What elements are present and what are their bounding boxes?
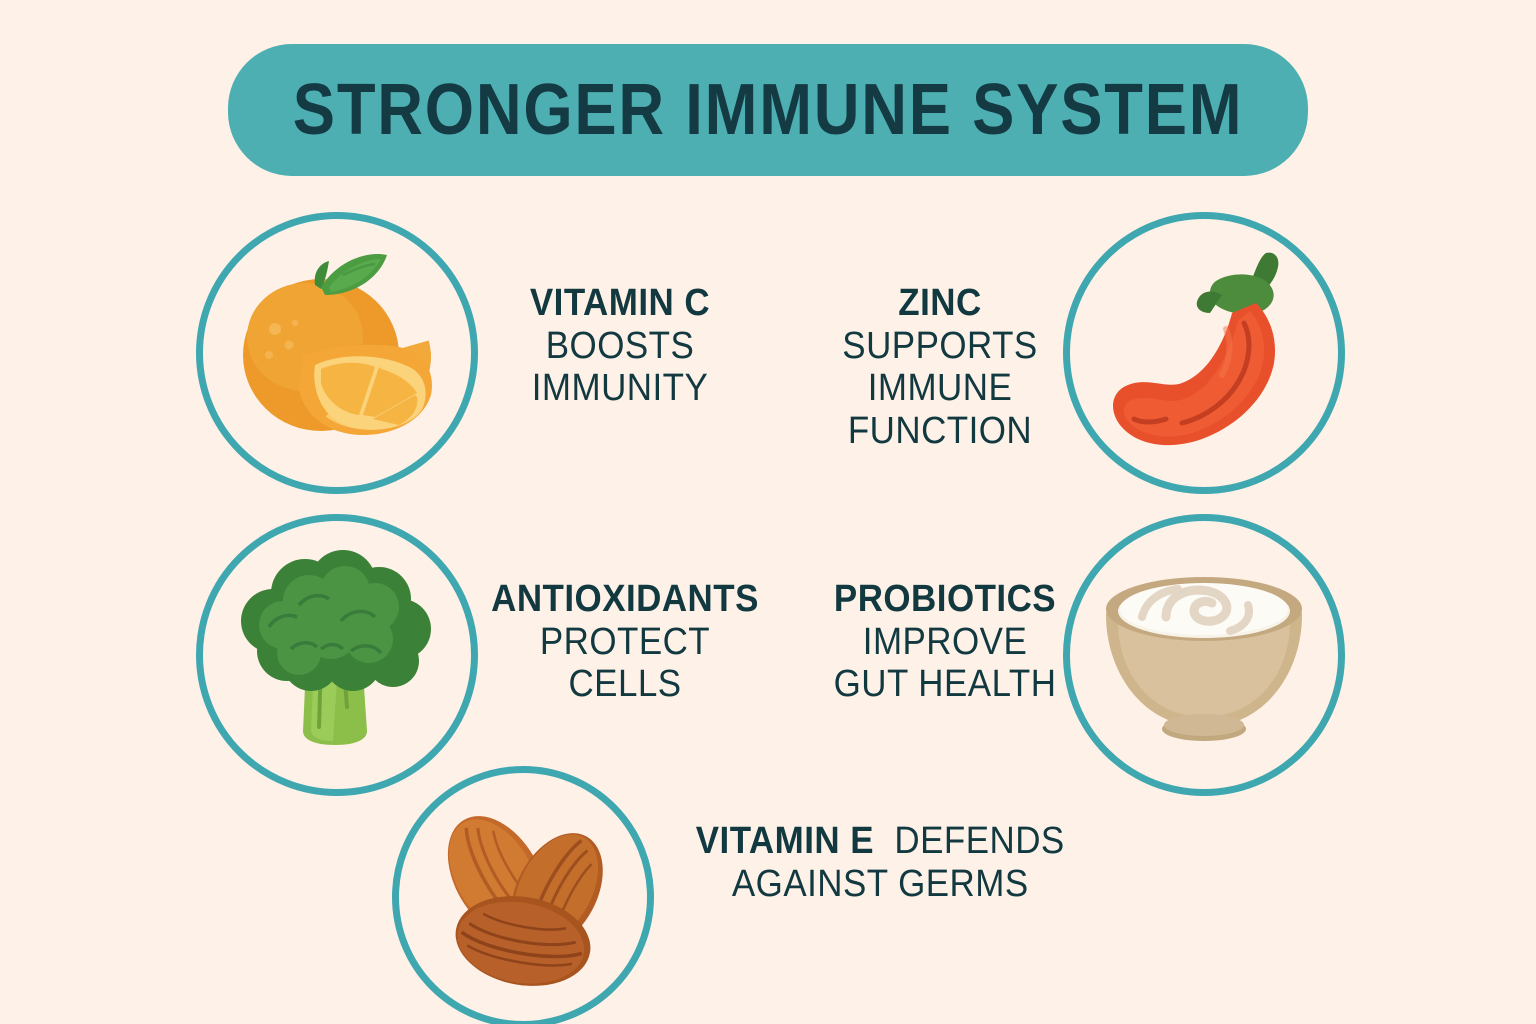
fact-heading: VITAMIN E (696, 820, 874, 863)
title-banner: STRONGER IMMUNE SYSTEM (228, 44, 1308, 176)
fact-line: IMMUNE (802, 367, 1078, 410)
chili-pepper-icon (1063, 212, 1345, 494)
fact-heading: ANTIOXIDANTS (469, 578, 782, 621)
fact-heading: ZINC (802, 282, 1078, 325)
almonds-icon (392, 766, 654, 1024)
fact-line: SUPPORTS (802, 325, 1078, 368)
yogurt-bowl-icon (1063, 514, 1345, 796)
fact-vitamin-e: VITAMIN E DEFENDS AGAINST GERMS (640, 820, 1120, 905)
broccoli-icon (196, 514, 478, 796)
fact-row-one: VITAMIN E DEFENDS (640, 820, 1120, 863)
fact-line: IMPROVE (807, 621, 1083, 664)
fact-line: FUNCTION (802, 410, 1078, 453)
fact-line: BOOSTS (473, 325, 767, 368)
page-title: STRONGER IMMUNE SYSTEM (293, 74, 1243, 146)
chili-pepper-graphic (1070, 219, 1338, 487)
fact-line: CELLS (469, 663, 782, 706)
fact-row-two: AGAINST GERMS (640, 863, 1120, 906)
orange-fruit-icon (196, 212, 478, 494)
infographic-canvas: STRONGER IMMUNE SYSTEM (0, 0, 1536, 1024)
fact-line: GUT HEALTH (807, 663, 1083, 706)
orange-fruit-graphic (203, 219, 471, 487)
fact-line: PROTECT (469, 621, 782, 664)
fact-line: IMMUNITY (473, 367, 767, 410)
fact-antioxidants: ANTIOXIDANTS PROTECT CELLS (455, 578, 795, 706)
almonds-graphic (399, 773, 647, 1021)
broccoli-graphic (203, 521, 471, 789)
fact-heading: PROBIOTICS (807, 578, 1083, 621)
fact-vitamin-c: VITAMIN C BOOSTS IMMUNITY (460, 282, 780, 410)
fact-heading: VITAMIN C (473, 282, 767, 325)
yogurt-bowl-graphic (1070, 521, 1338, 789)
fact-line: AGAINST GERMS (732, 863, 1029, 906)
fact-zinc: ZINC SUPPORTS IMMUNE FUNCTION (790, 282, 1090, 452)
fact-probiotics: PROBIOTICS IMPROVE GUT HEALTH (795, 578, 1095, 706)
fact-line: DEFENDS (894, 820, 1064, 863)
